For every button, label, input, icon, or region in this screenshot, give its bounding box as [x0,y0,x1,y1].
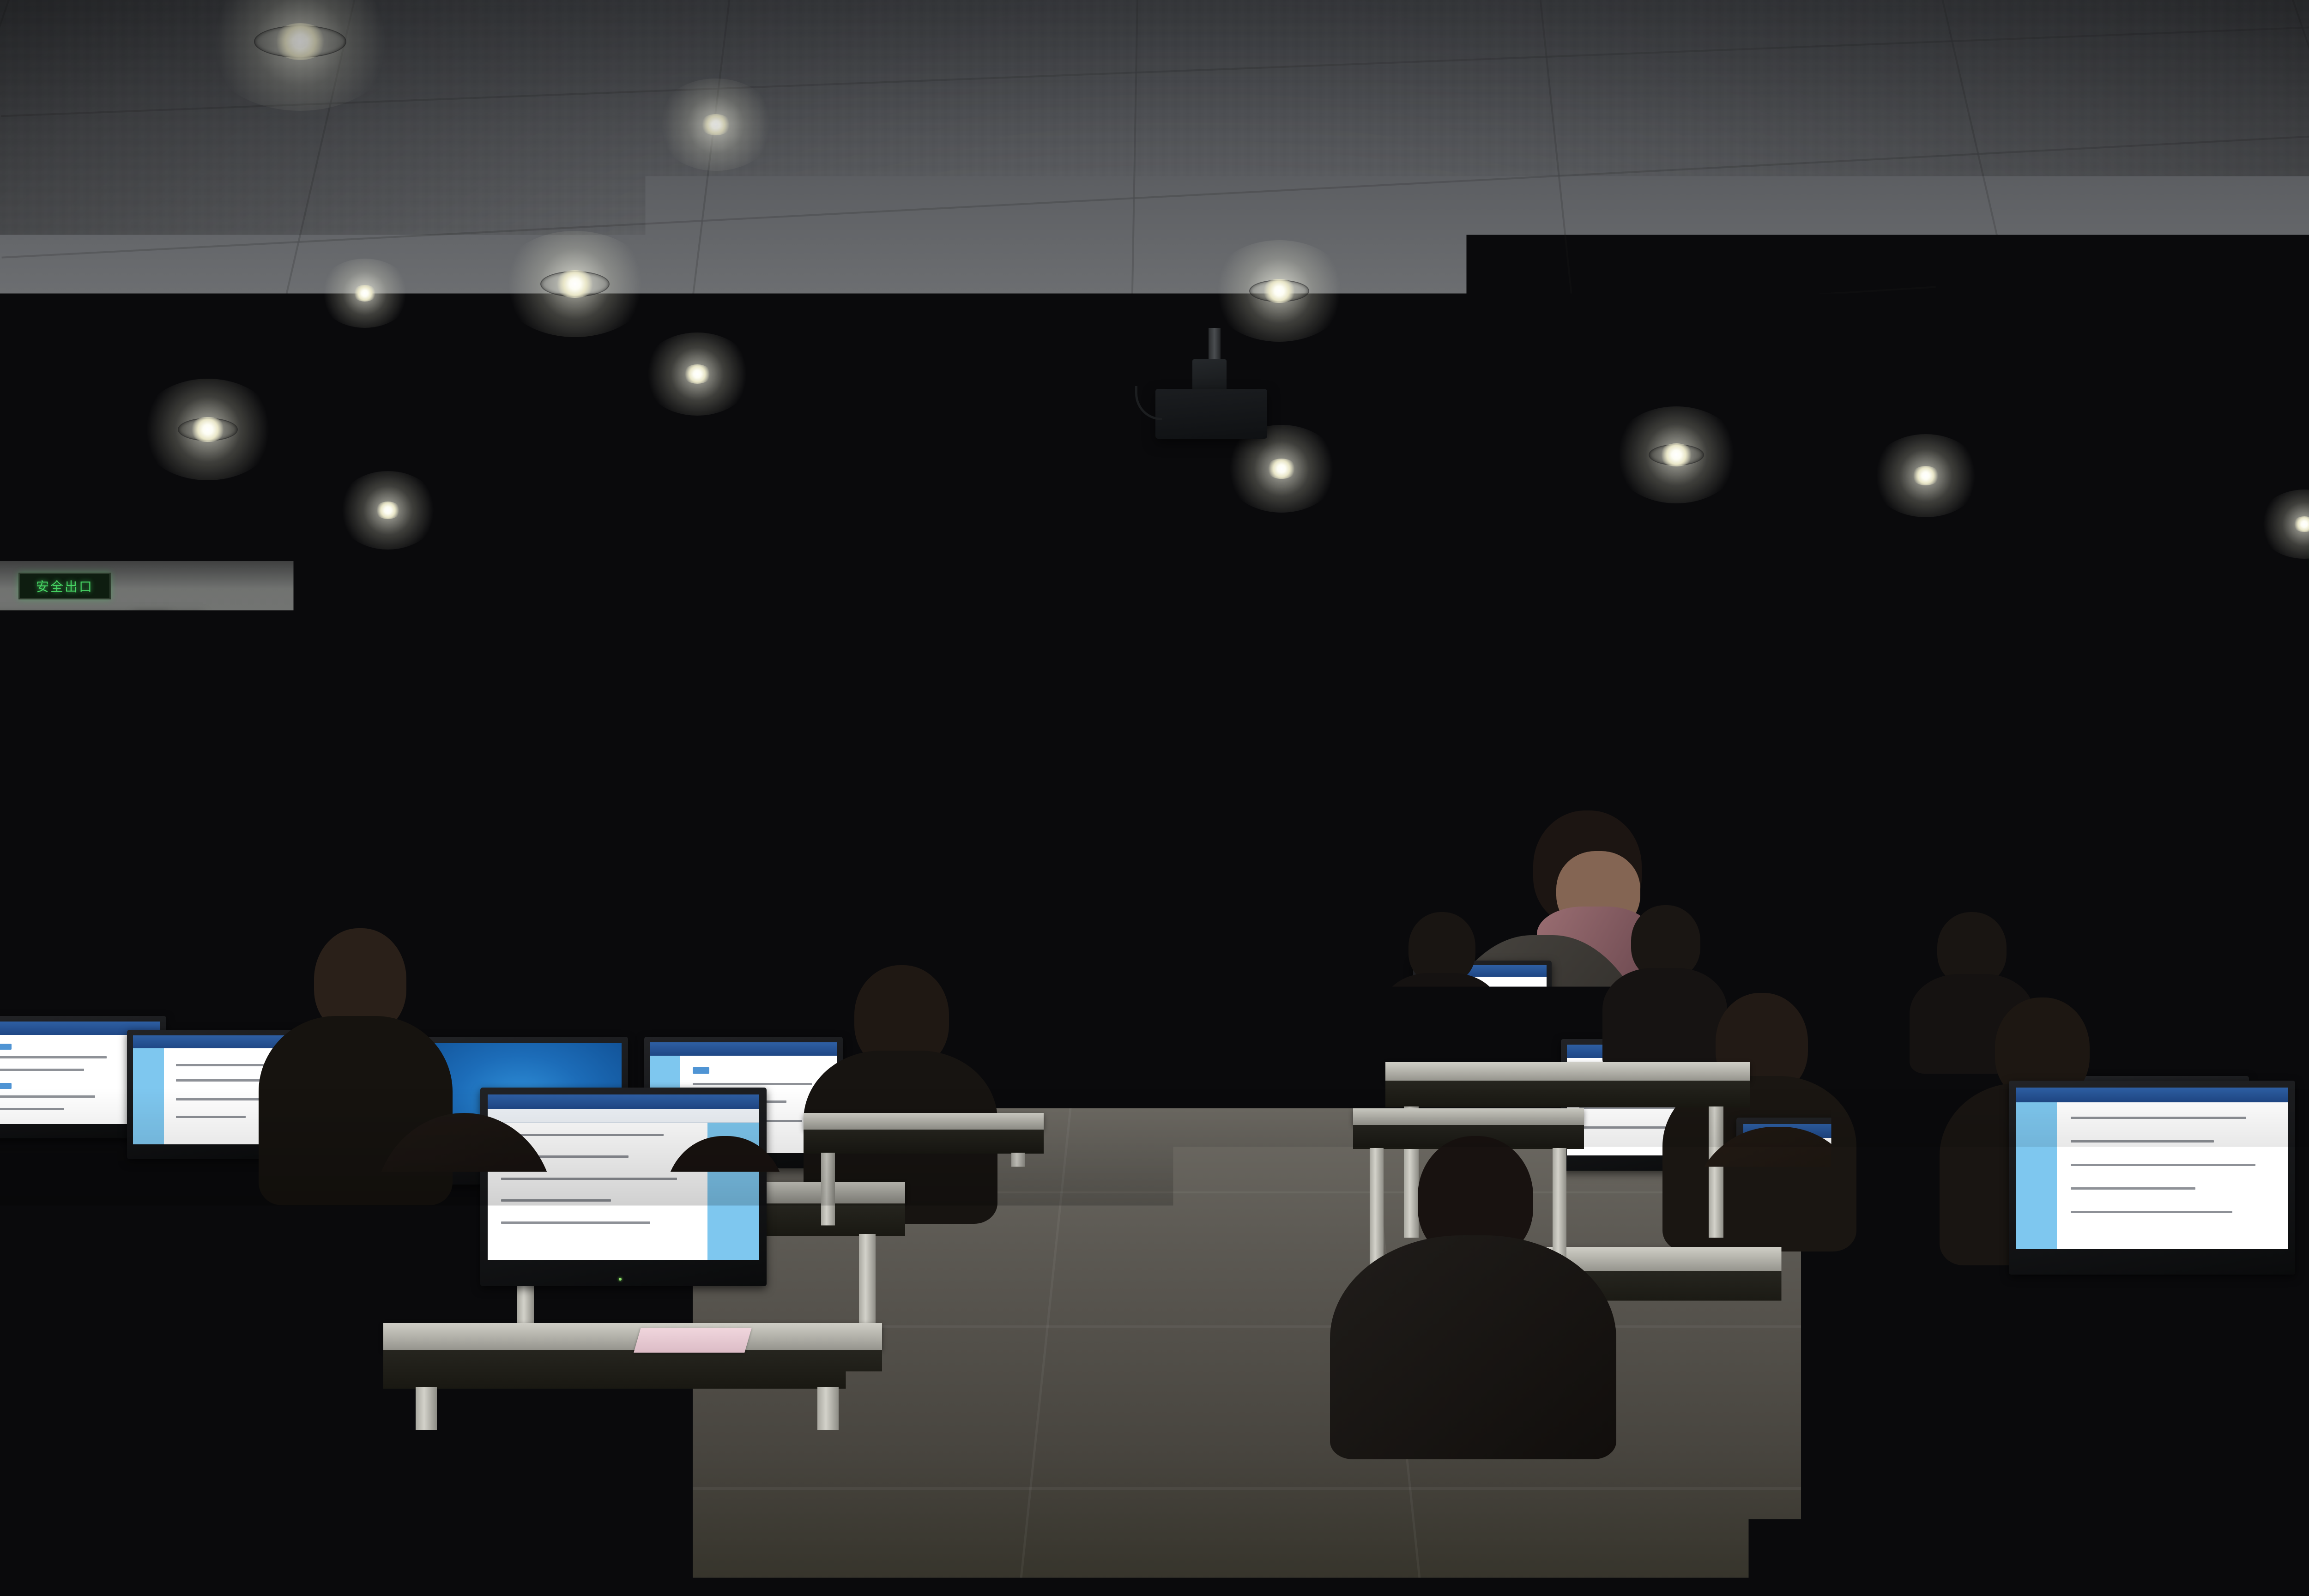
ceiling-downlight [642,332,753,416]
ceiling-downlight [319,259,411,328]
slide-title-line-2: 综合法律知识考试 [971,751,1466,828]
slide-date: 2014-02-22 [1107,887,1329,927]
wall-speaker-left [510,592,623,657]
examinee-far-right-edge [2217,1196,2309,1596]
glasses-icon [175,867,204,884]
ceiling-downlight [337,471,439,550]
ceiling-downlight [1210,240,1348,342]
slide-title-line-1: 武威市行政执法人员 [940,670,1497,746]
left-door-panel [0,767,29,1007]
examinee-midground-left [573,1136,868,1459]
wall-speaker-right [1802,569,1916,635]
seated-examinee [1381,912,1501,1069]
speaker-bracket [1852,551,1880,571]
security-camera-icon [2145,583,2172,604]
ceiling-downlight [139,379,277,480]
examinee-midground-right [1330,1136,1616,1459]
left-door-glass-upper [28,647,134,744]
ceiling-projector [1145,351,1284,453]
speaker-led-icon [1855,594,1865,604]
exit-sign-left-label: 安全出口 [36,577,93,595]
left-door-mullion [0,741,152,763]
seated-instructor [2166,873,2272,956]
right-door-glass [2242,614,2309,716]
speaker-bracket [560,574,587,593]
ceiling [0,0,2309,596]
microphone-icon [2073,836,2166,951]
ceiling-downlight [656,79,776,171]
exam-hall-photo: 武威市行政执法人员 综合法律知识考试 2014-02-22 安全出口 安全出口 [0,0,2309,1596]
invigilator-collar [142,913,188,949]
ceiling-downlight [1612,406,1741,503]
ceiling-downlight [499,231,651,337]
examinee-far-left-edge [0,1048,139,1372]
speaker-led-icon [562,617,572,627]
glasses-icon [144,867,173,884]
ceiling-downlight [1870,434,1981,517]
exit-sign-left: 安全出口 [18,573,111,599]
projection-screen-housing [922,557,1515,583]
